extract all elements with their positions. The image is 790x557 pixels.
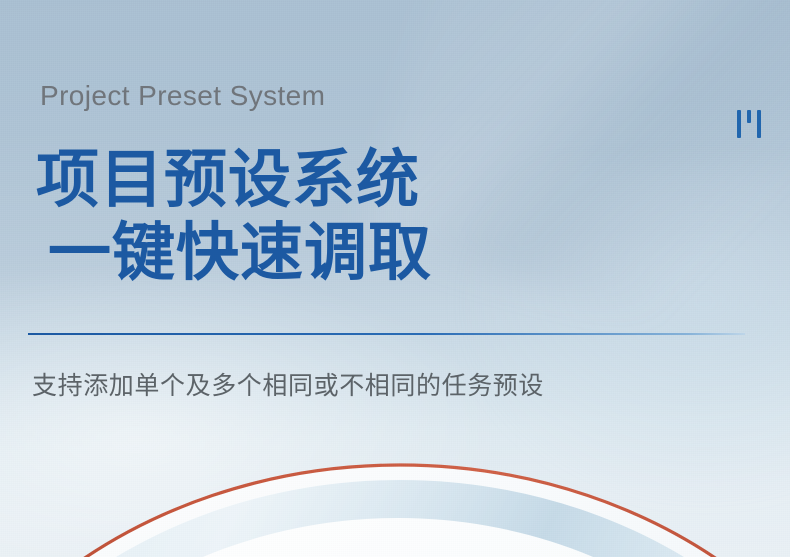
bar-left-icon xyxy=(737,110,741,138)
eyebrow-title: Project Preset System xyxy=(40,80,325,112)
page-title: 项目预设系统 一键快速调取 xyxy=(36,144,432,290)
promo-banner: Project Preset System 项目预设系统 一键快速调取 支持添加… xyxy=(0,0,790,557)
headline-line-1: 项目预设系统 xyxy=(36,145,420,215)
divider xyxy=(28,333,745,335)
headline-line-2: 一键快速调取 xyxy=(36,217,432,290)
bar-middle-icon xyxy=(747,110,751,123)
three-vertical-bars-icon xyxy=(737,110,765,138)
subtitle: 支持添加单个及多个相同或不相同的任务预设 xyxy=(32,366,544,402)
bar-right-icon xyxy=(757,110,761,138)
